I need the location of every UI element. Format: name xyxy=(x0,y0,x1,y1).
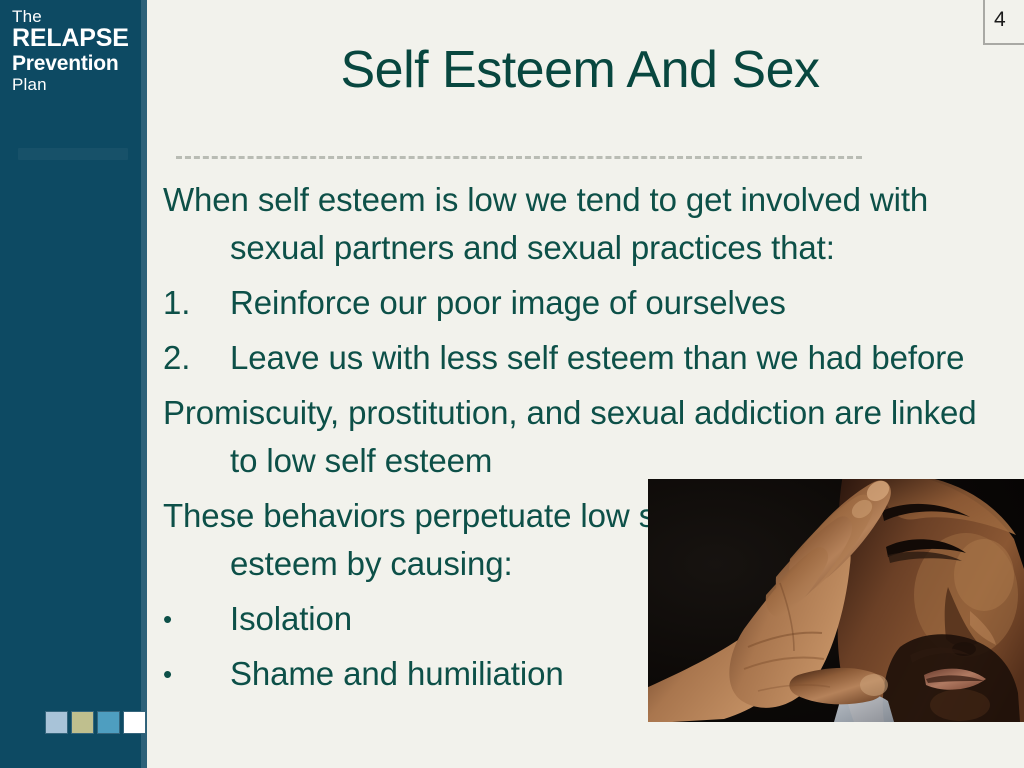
list-item: 1. Reinforce our poor image of ourselves xyxy=(163,279,993,327)
swatch-khaki xyxy=(71,711,94,734)
presentation-slide: The RELAPSE Prevention Plan 4 Self Estee… xyxy=(0,0,1024,768)
divider xyxy=(176,156,862,159)
logo-watermark xyxy=(18,148,128,160)
logo-line-plan: Plan xyxy=(12,76,142,93)
logo-line-prevention: Prevention xyxy=(12,53,142,74)
brand-logo: The RELAPSE Prevention Plan xyxy=(12,8,142,94)
bullet-icon: • xyxy=(163,650,230,698)
color-swatch-row xyxy=(45,711,146,734)
swatch-blue xyxy=(97,711,120,734)
list-item-label: Leave us with less self esteem than we h… xyxy=(230,334,993,382)
swatch-white xyxy=(123,711,146,734)
paragraph-behaviors: These behaviors perpetuate low self este… xyxy=(163,492,730,588)
list-marker-1: 1. xyxy=(163,279,230,327)
swatch-light-blue xyxy=(45,711,68,734)
man-with-hand-on-forehead-photo xyxy=(648,479,1024,722)
logo-line-the: The xyxy=(12,8,142,25)
intro-paragraph: When self esteem is low we tend to get i… xyxy=(163,176,993,272)
list-marker-2: 2. xyxy=(163,334,230,382)
sidebar-edge-stripe xyxy=(141,0,147,768)
list-item: 2. Leave us with less self esteem than w… xyxy=(163,334,993,382)
sidebar: The RELAPSE Prevention Plan xyxy=(0,0,147,768)
bullet-icon: • xyxy=(163,595,230,643)
slide-number-badge: 4 xyxy=(983,0,1024,45)
paragraph-promiscuity: Promiscuity, prostitution, and sexual ad… xyxy=(163,389,993,485)
page-title: Self Esteem And Sex xyxy=(160,40,1000,100)
list-item-label: Reinforce our poor image of ourselves xyxy=(230,279,993,327)
logo-line-relapse: RELAPSE xyxy=(12,26,142,52)
